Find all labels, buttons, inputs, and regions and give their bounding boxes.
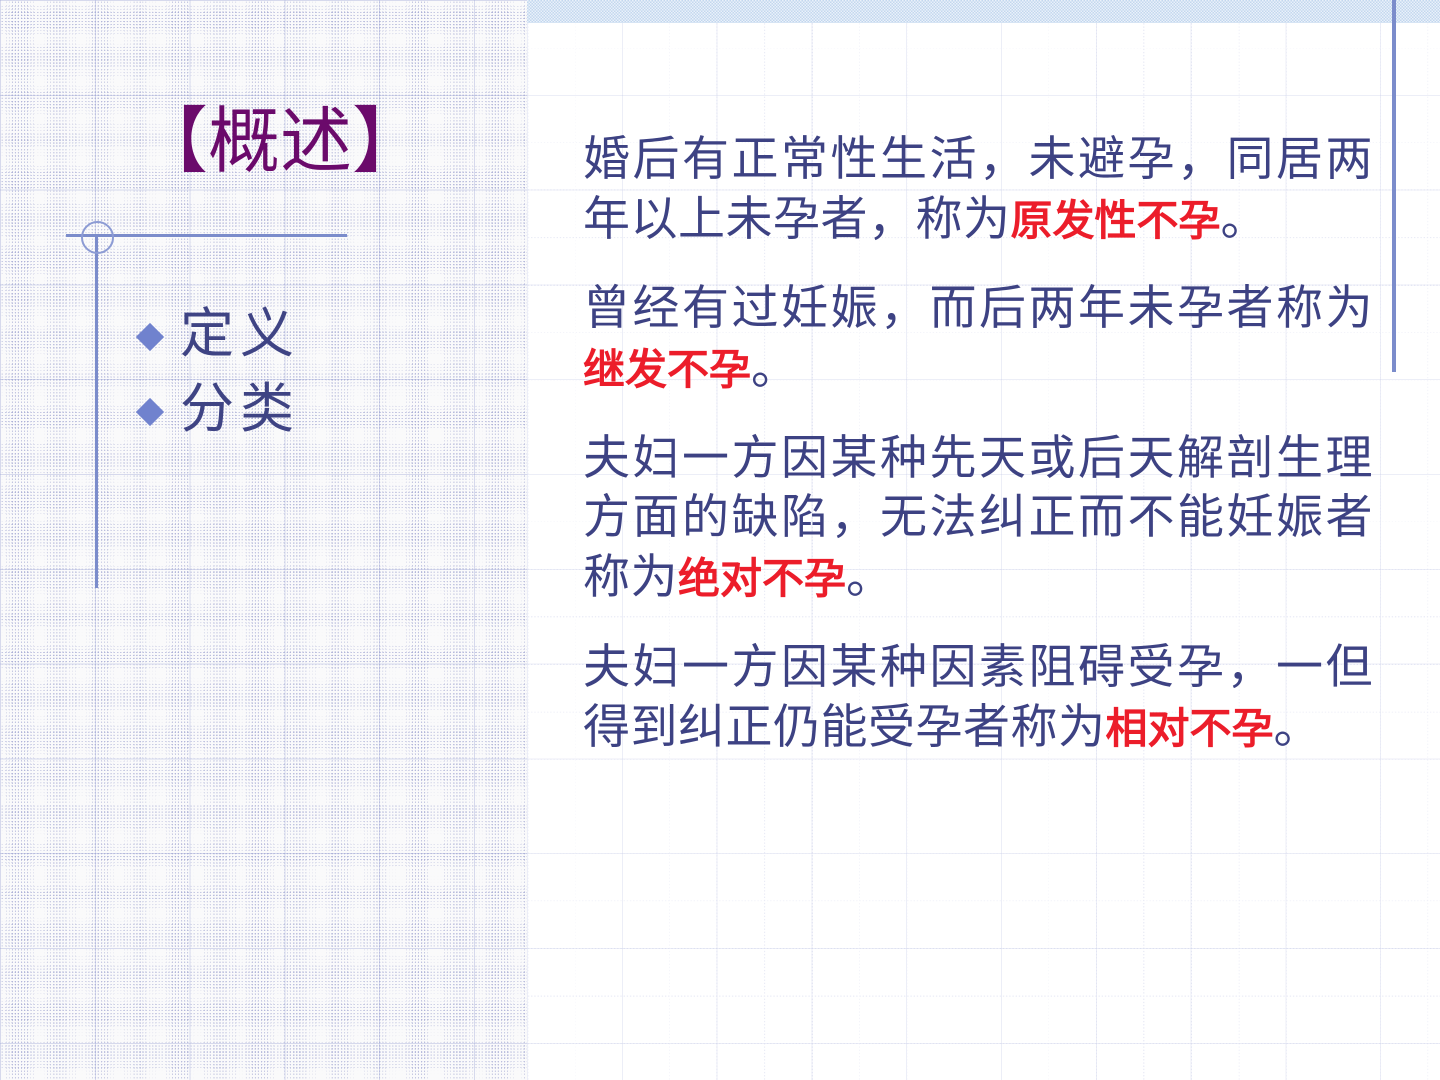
- highlight-term-primary-infertility: 原发性不孕: [1011, 196, 1221, 245]
- paragraph-secondary-infertility: 曾经有过妊娠，而后两年未孕者称为继发不孕。: [583, 280, 1373, 399]
- top-accent-band: [527, 0, 1440, 23]
- paragraph-tail-text: 。: [751, 343, 799, 395]
- bullet-label-definition: 定义: [180, 305, 300, 364]
- bullet-list: 定义 分类: [140, 305, 470, 456]
- decorative-circle: [81, 221, 114, 254]
- page-title: 【概述】: [60, 105, 500, 181]
- diamond-bullet-icon: [136, 398, 164, 426]
- list-item[interactable]: 定义: [140, 305, 470, 364]
- paragraph-absolute-infertility: 夫妇一方因某种先天或后天解剖生理方面的缺陷，无法纠正而不能妊娠者称为绝对不孕。: [583, 430, 1373, 609]
- right-accent-rule: [1392, 0, 1396, 372]
- paragraph-tail-text: 。: [846, 552, 894, 604]
- paragraph-primary-infertility: 婚后有正常性生活，未避孕，同居两年以上未孕者，称为原发性不孕。: [583, 131, 1373, 250]
- paragraph-relative-infertility: 夫妇一方因某种因素阻碍受孕，一但得到纠正仍能受孕者称为相对不孕。: [583, 639, 1373, 758]
- diamond-bullet-icon: [136, 323, 164, 351]
- left-vertical-rule: [95, 234, 98, 588]
- slide-canvas: 【概述】 定义 分类 婚后有正常性生活，未避孕，同居两年以上未孕者，称为原发性不…: [0, 0, 1440, 1080]
- paragraph-lead-text: 曾经有过妊娠，而后两年未孕者称为: [583, 283, 1373, 335]
- paragraph-tail-text: 。: [1221, 194, 1269, 246]
- list-item[interactable]: 分类: [140, 380, 470, 439]
- highlight-term-relative-infertility: 相对不孕: [1106, 704, 1274, 753]
- paragraph-tail-text: 。: [1274, 702, 1322, 754]
- highlight-term-secondary-infertility: 继发不孕: [583, 345, 751, 394]
- highlight-term-absolute-infertility: 绝对不孕: [678, 554, 846, 603]
- body-content: 婚后有正常性生活，未避孕，同居两年以上未孕者，称为原发性不孕。 曾经有过妊娠，而…: [583, 131, 1373, 758]
- bullet-label-classification: 分类: [180, 380, 300, 439]
